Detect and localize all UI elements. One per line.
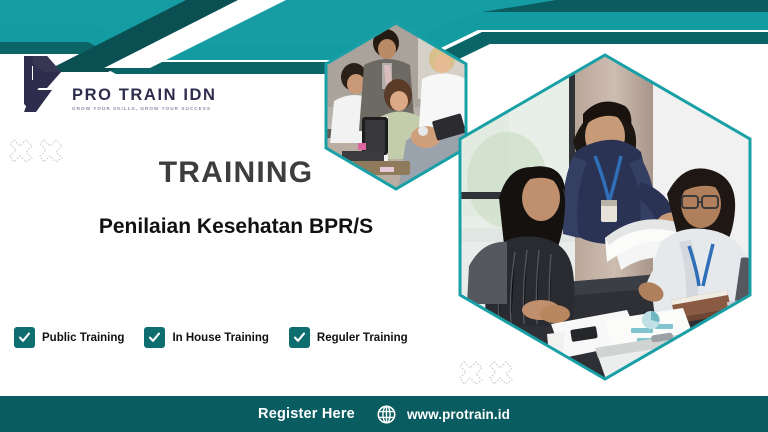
brand-name: PRO TRAIN IDN xyxy=(72,87,217,104)
checkmark-icon xyxy=(293,331,306,344)
footer-bar: Register Here www.protrain.id xyxy=(0,396,768,432)
option-public-training[interactable]: Public Training xyxy=(14,327,124,348)
checkmark-icon xyxy=(148,331,161,344)
checkbox-reguler-training[interactable] xyxy=(289,327,310,348)
option-in-house-training[interactable]: In House Training xyxy=(144,327,268,348)
hexagon-photo-team-meeting xyxy=(322,21,470,191)
page-title: Penilaian Kesehatan BPR/S xyxy=(0,188,472,237)
globe-icon xyxy=(377,405,396,424)
website-url-text: www.protrain.id xyxy=(407,407,510,422)
brand-tagline: GROW YOUR SKILLS, GROW YOUR SUCCESS xyxy=(72,107,217,112)
option-label: In House Training xyxy=(172,332,268,344)
hexagon-photo-business-discussion xyxy=(455,52,755,382)
checkbox-public-training[interactable] xyxy=(14,327,35,348)
option-reguler-training[interactable]: Reguler Training xyxy=(289,327,408,348)
checkbox-in-house-training[interactable] xyxy=(144,327,165,348)
checkmark-icon xyxy=(18,331,31,344)
brand-logo: PRO TRAIN IDN GROW YOUR SKILLS, GROW YOU… xyxy=(14,54,217,114)
option-label: Public Training xyxy=(42,332,124,344)
website-link[interactable]: www.protrain.id xyxy=(377,405,510,424)
pro-train-arrow-logo-icon xyxy=(14,54,66,114)
register-here-label: Register Here xyxy=(258,406,355,422)
training-type-options: Public Training In House Training Regule… xyxy=(14,327,408,348)
option-label: Reguler Training xyxy=(317,332,408,344)
training-poster: PRO TRAIN IDN GROW YOUR SKILLS, GROW YOU… xyxy=(0,0,768,432)
